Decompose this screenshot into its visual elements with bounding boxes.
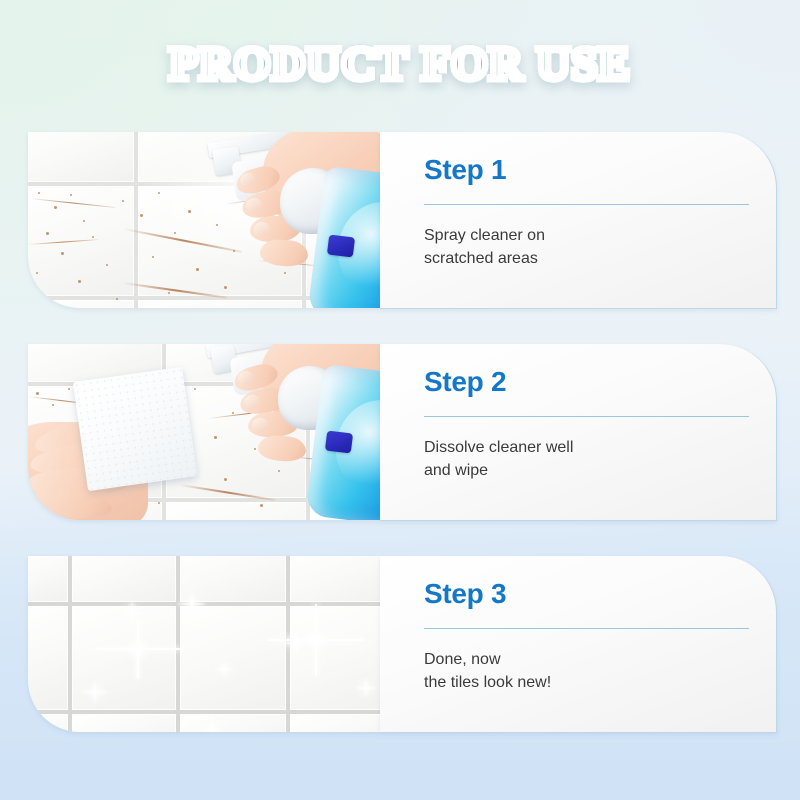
step-3-body: Done, now the tiles look new! [424,648,736,694]
step-1-photo [28,132,380,308]
step-2-photo [28,344,380,520]
step-row-3: Step 3 Done, now the tiles look new! [28,556,777,732]
step-1-panel: Step 1 Spray cleaner on scratched areas [380,132,777,309]
step-2-panel: Step 2 Dissolve cleaner well and wipe [380,344,777,521]
infographic-root: PRODUCT FOR USE [0,0,800,800]
title-word-for-use: FOR USE [421,38,630,90]
step-3-title: Step 3 [424,578,506,610]
step-2-divider [424,416,749,417]
title-word-product: PRODUCT [169,38,408,90]
step-2-title: Step 2 [424,366,506,398]
step-1-body: Spray cleaner on scratched areas [424,224,736,270]
clean-tile-wall [28,556,380,732]
step-1-title: Step 1 [424,154,506,186]
step-row-1: Step 1 Spray cleaner on scratched areas [28,132,777,308]
step-3-divider [424,628,749,629]
step-1-divider [424,204,749,205]
step-3-panel: Step 3 Done, now the tiles look new! [380,556,777,733]
step-3-photo [28,556,380,732]
page-title: PRODUCT FOR USE [0,34,800,96]
step-row-2: Step 2 Dissolve cleaner well and wipe [28,344,777,520]
step-2-body: Dissolve cleaner well and wipe [424,436,736,482]
